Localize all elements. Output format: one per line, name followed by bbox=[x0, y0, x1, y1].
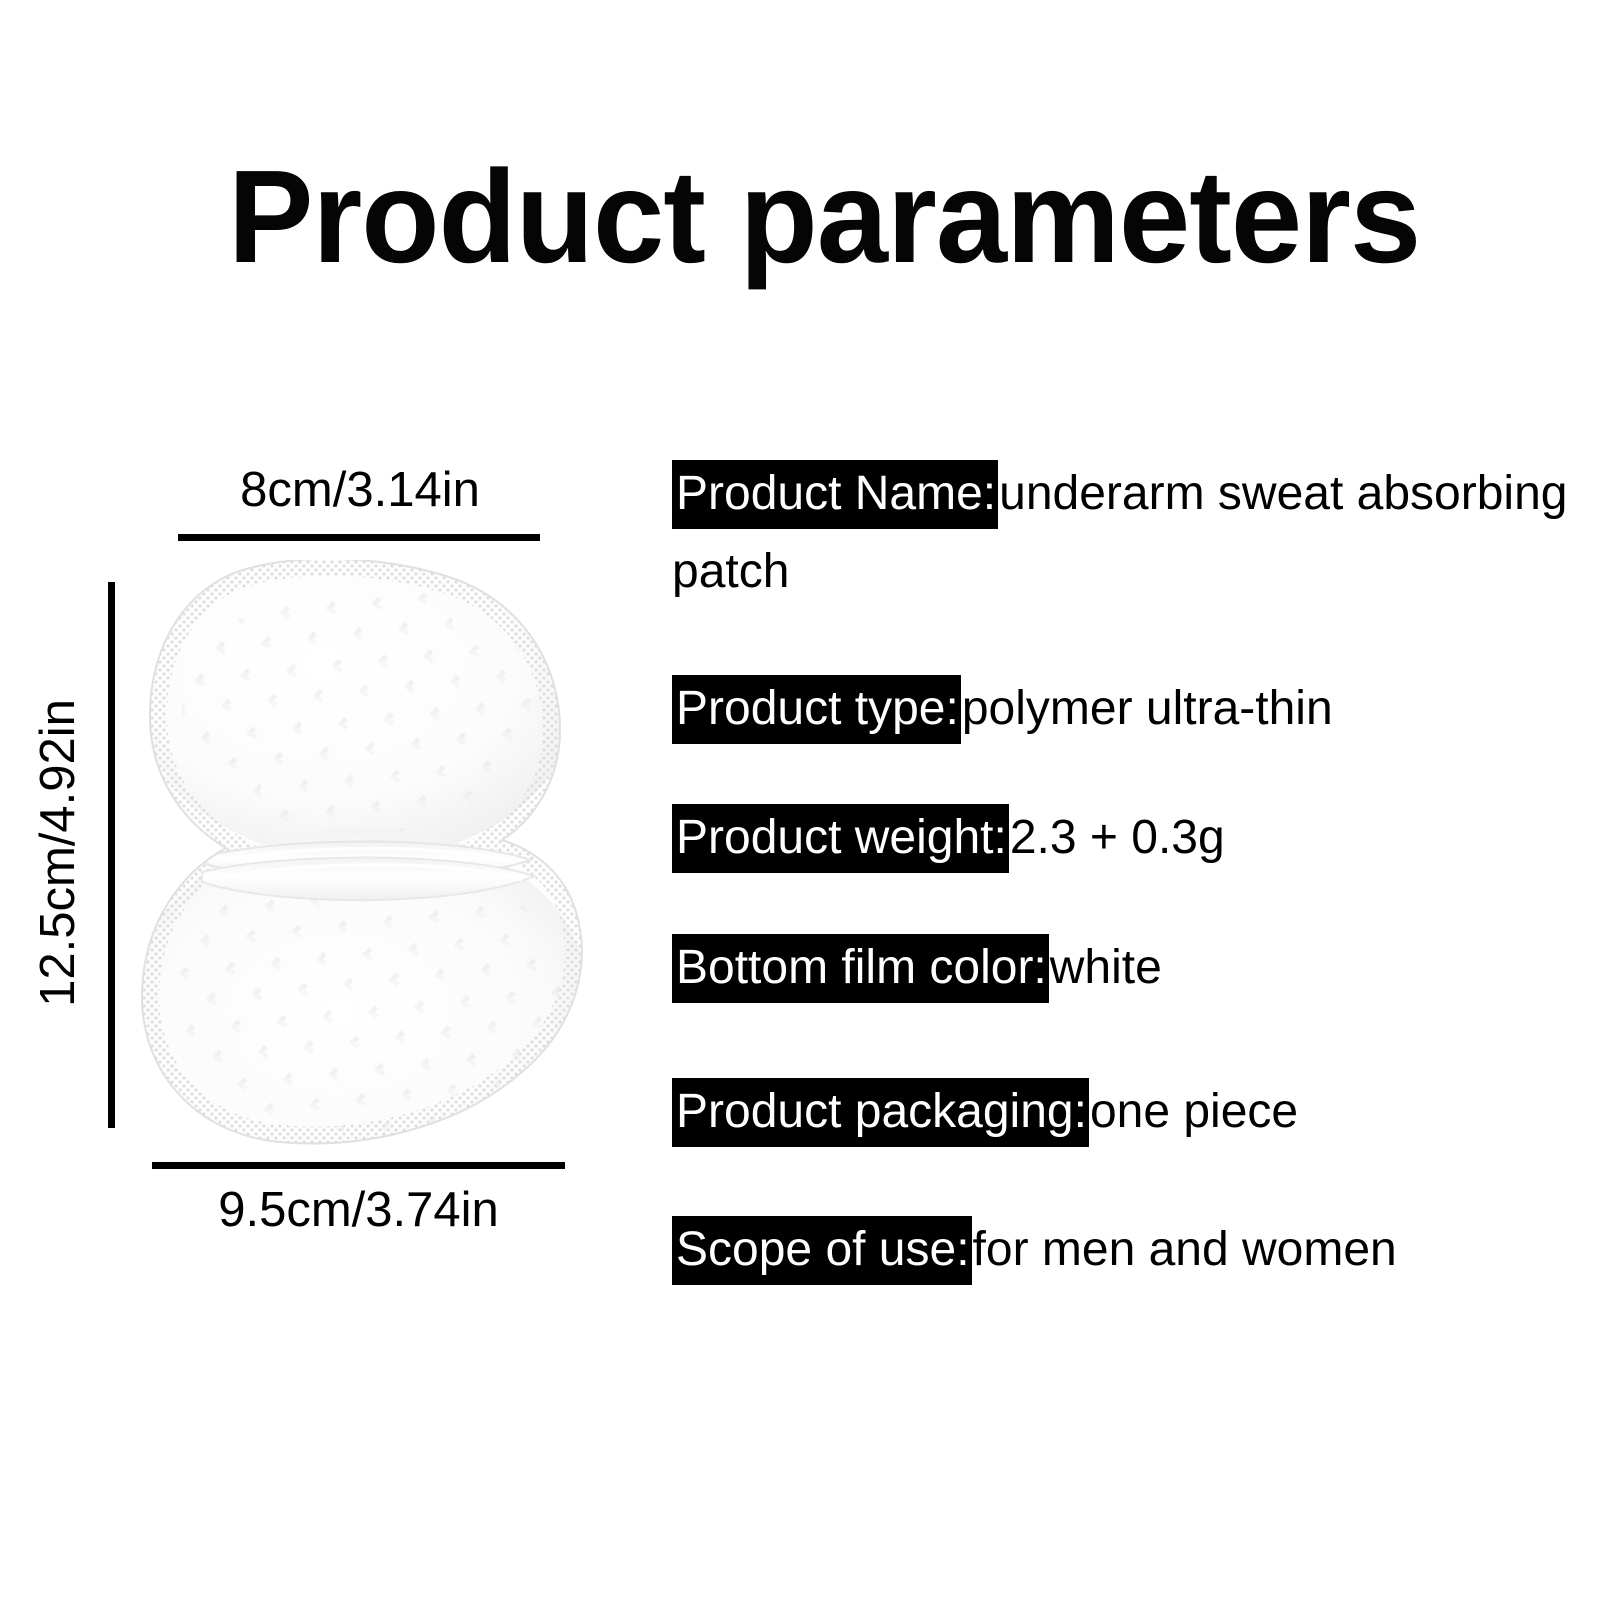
spec-key-product-type: Product type: bbox=[672, 675, 961, 744]
spec-row-scope-of-use: Scope of use:for men and women bbox=[672, 1211, 1582, 1289]
spec-row-product-name: Product Name:underarm sweat absorbing pa… bbox=[672, 455, 1582, 611]
spec-row-bottom-film-color: Bottom film color:white bbox=[672, 929, 1582, 1007]
spec-row-product-weight: Product weight:2.3 + 0.3g bbox=[672, 799, 1582, 877]
page-title: Product parameters bbox=[228, 162, 1353, 272]
spec-value-product-packaging: one piece bbox=[1089, 1085, 1298, 1138]
dimension-label-bottom-width: 9.5cm/3.74in bbox=[152, 1182, 565, 1238]
spec-key-bottom-film-color: Bottom film color: bbox=[672, 934, 1049, 1003]
spec-row-product-packaging: Product packaging:one piece bbox=[672, 1073, 1582, 1151]
product-figure-block: 8cm/3.14in 12.5cm/4.92in bbox=[0, 430, 620, 1260]
product-image-sweat-pad bbox=[130, 560, 600, 1150]
spec-value-product-weight: 2.3 + 0.3g bbox=[1009, 811, 1225, 864]
spec-value-bottom-film-color: white bbox=[1049, 941, 1162, 994]
spec-key-product-name: Product Name: bbox=[672, 460, 998, 529]
dimension-rule-top bbox=[178, 534, 540, 541]
spec-value-scope-of-use: for men and women bbox=[972, 1223, 1397, 1276]
spec-row-product-type: Product type:polymer ultra-thin bbox=[672, 670, 1582, 748]
dimension-label-height: 12.5cm/4.92in bbox=[30, 623, 86, 1083]
dimension-label-top-width: 8cm/3.14in bbox=[178, 462, 542, 518]
spec-key-product-packaging: Product packaging: bbox=[672, 1078, 1089, 1147]
dimension-rule-bottom bbox=[152, 1162, 565, 1169]
spec-key-product-weight: Product weight: bbox=[672, 804, 1009, 873]
spec-key-scope-of-use: Scope of use: bbox=[672, 1216, 972, 1285]
dimension-rule-left bbox=[108, 582, 115, 1128]
spec-value-product-type: polymer ultra-thin bbox=[961, 682, 1333, 735]
